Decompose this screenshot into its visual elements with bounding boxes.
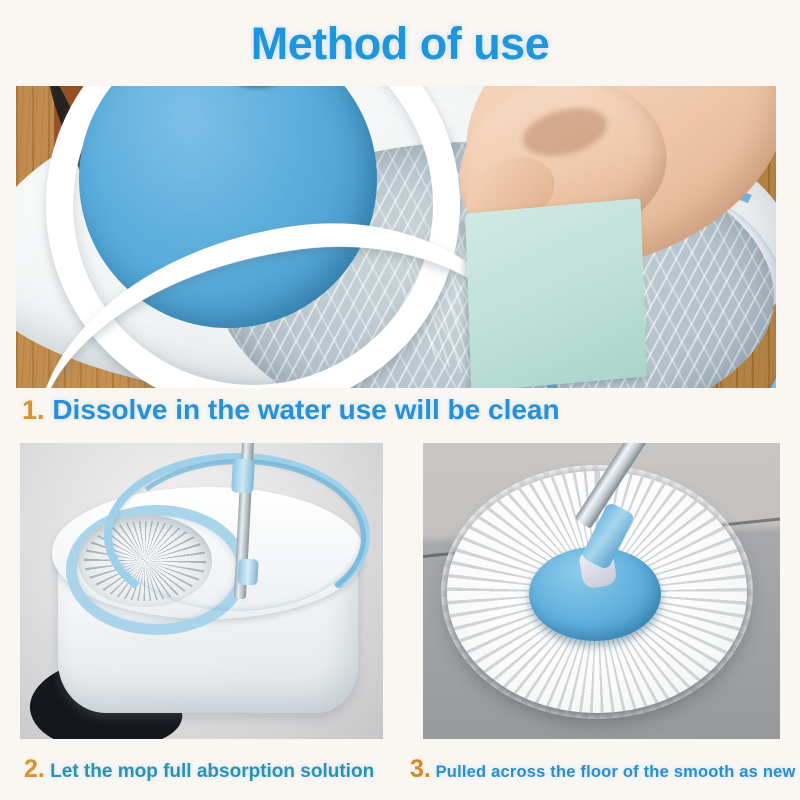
step-3-caption: 3. Pulled across the floor of the smooth… (410, 755, 796, 784)
step-1-caption: 1. Dissolve in the water use will be cle… (22, 394, 560, 426)
step-1-number: 1. (22, 395, 45, 425)
page-title: Method of use (0, 18, 800, 70)
mop-pole-collar-upper (231, 458, 255, 493)
dissolvable-tablet-sheet (465, 198, 647, 388)
step-3-number: 3. (410, 755, 431, 783)
step-3-text: Pulled across the floor of the smooth as… (436, 763, 796, 781)
photo-step-3-mop-head (423, 443, 780, 739)
step-1-text: Dissolve in the water use will be clean (52, 394, 559, 425)
step-2-number: 2. (24, 755, 45, 783)
photo-step-1-dissolve-tablet (16, 86, 776, 388)
step-2-text: Let the mop full absorption solution (50, 761, 374, 782)
photo-step-2-mop-absorb (20, 443, 383, 739)
mop-pole-collar-lower (237, 558, 258, 585)
step-2-caption: 2. Let the mop full absorption solution (24, 755, 374, 784)
